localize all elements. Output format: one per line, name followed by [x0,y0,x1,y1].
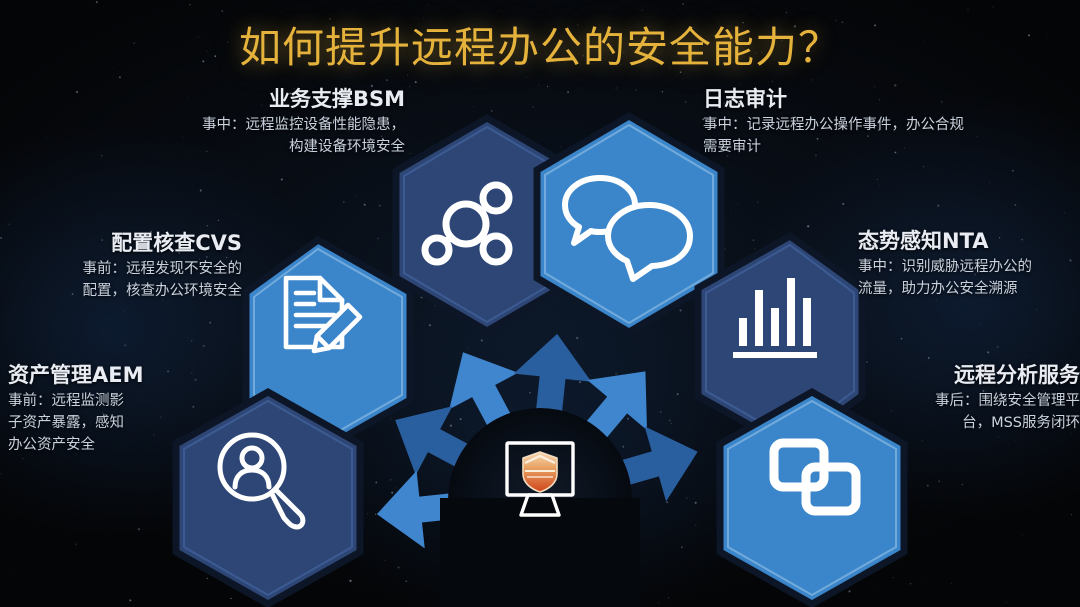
callout-nta: 态势感知NTA 事中：识别威胁远程办公的 流量，助力办公安全溯源 [858,228,1080,301]
callout-aem-line3: 办公资产安全 [8,435,198,457]
callout-nta-heading: 态势感知NTA [858,228,1080,254]
callout-cvs-line2: 配置，核查办公环境安全 [2,281,242,303]
callout-log-audit: 日志审计 事中：记录远程办公操作事件，办公合规 需要审计 [703,86,1033,159]
callout-bsm: 业务支撑BSM 事中：远程监控设备性能隐患， 构建设备环境安全 [105,86,405,159]
page-title: 如何提升远程办公的安全能力？ [0,14,1080,75]
callout-remote-analysis: 远程分析服务 事后：围绕安全管理平 台，MSS服务闭环 [880,362,1080,435]
callout-aem: 资产管理AEM 事前：远程监测影 子资产暴露，感知 办公资产安全 [8,362,198,457]
callout-bsm-line1: 事中：远程监控设备性能隐患， [105,115,405,137]
callout-nta-line2: 流量，助力办公安全溯源 [858,279,1080,301]
callout-remote-analysis-line2: 台，MSS服务闭环 [880,413,1080,435]
hex-node-log-audit[interactable] [537,116,721,332]
shield-icon [523,452,557,492]
callout-bsm-line2: 构建设备环境安全 [105,137,405,159]
callout-cvs: 配置核查CVS 事前：远程发现不安全的 配置，核查办公环境安全 [2,230,242,303]
callout-aem-heading: 资产管理AEM [8,362,198,388]
callout-log-audit-heading: 日志审计 [703,86,1033,112]
callout-bsm-heading: 业务支撑BSM [105,86,405,112]
callout-remote-analysis-heading: 远程分析服务 [880,362,1080,388]
callout-log-audit-line1: 事中：记录远程办公操作事件，办公合规 [703,115,1033,137]
callout-remote-analysis-line1: 事后：围绕安全管理平 [880,391,1080,413]
callout-nta-line1: 事中：识别威胁远程办公的 [858,257,1080,279]
callout-cvs-line1: 事前：远程发现不安全的 [2,259,242,281]
callout-cvs-heading: 配置核查CVS [2,230,242,256]
callout-aem-line2: 子资产暴露，感知 [8,413,198,435]
callout-log-audit-line2: 需要审计 [703,137,1033,159]
callout-aem-line1: 事前：远程监测影 [8,391,198,413]
